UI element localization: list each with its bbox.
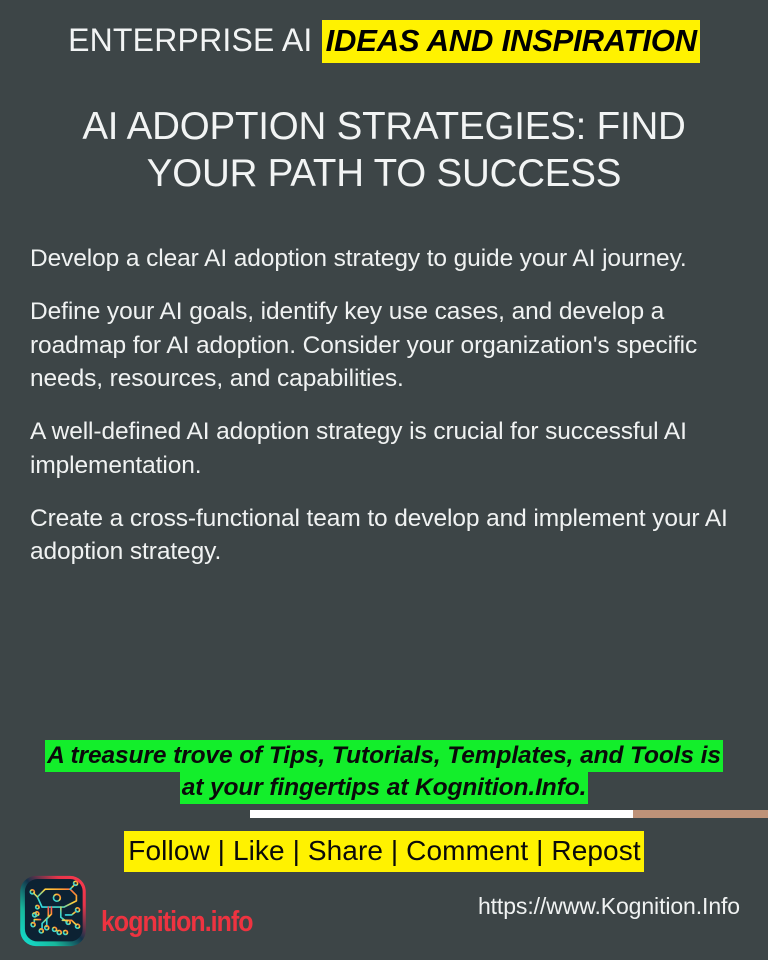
promo-line-2: at your fingertips at Kognition.Info. <box>180 772 589 804</box>
website-url[interactable]: https://www.Kognition.Info <box>478 893 740 920</box>
brand-lockup: kognition.info <box>14 872 277 950</box>
promo-callout: A treasure trove of Tips, Tutorials, Tem… <box>0 740 768 804</box>
body-paragraph: Create a cross-functional team to develo… <box>30 502 736 569</box>
call-to-action: Follow | Like | Share | Comment | Repost <box>0 837 768 865</box>
circuit-board-logo-icon <box>14 872 92 950</box>
body-paragraph: Develop a clear AI adoption strategy to … <box>30 242 736 275</box>
poster-canvas: ENTERPRISE AI IDEAS AND INSPIRATION AI A… <box>0 0 768 960</box>
kicker: ENTERPRISE AI IDEAS AND INSPIRATION <box>0 24 768 56</box>
kicker-highlighted-text: IDEAS AND INSPIRATION <box>322 20 700 63</box>
brand-wordmark: kognition.info <box>101 906 253 939</box>
divider-rule-white <box>250 810 633 818</box>
cta-text[interactable]: Follow | Like | Share | Comment | Repost <box>124 831 643 872</box>
divider-rule-tan <box>633 810 768 818</box>
body-paragraph: A well-defined AI adoption strategy is c… <box>30 415 736 482</box>
kicker-plain-text: ENTERPRISE AI <box>68 22 322 58</box>
body-copy: Develop a clear AI adoption strategy to … <box>30 242 736 569</box>
body-paragraph: Define your AI goals, identify key use c… <box>30 295 736 395</box>
promo-line-1: A treasure trove of Tips, Tutorials, Tem… <box>45 740 723 772</box>
page-title: AI ADOPTION STRATEGIES: FIND YOUR PATH T… <box>30 104 738 198</box>
